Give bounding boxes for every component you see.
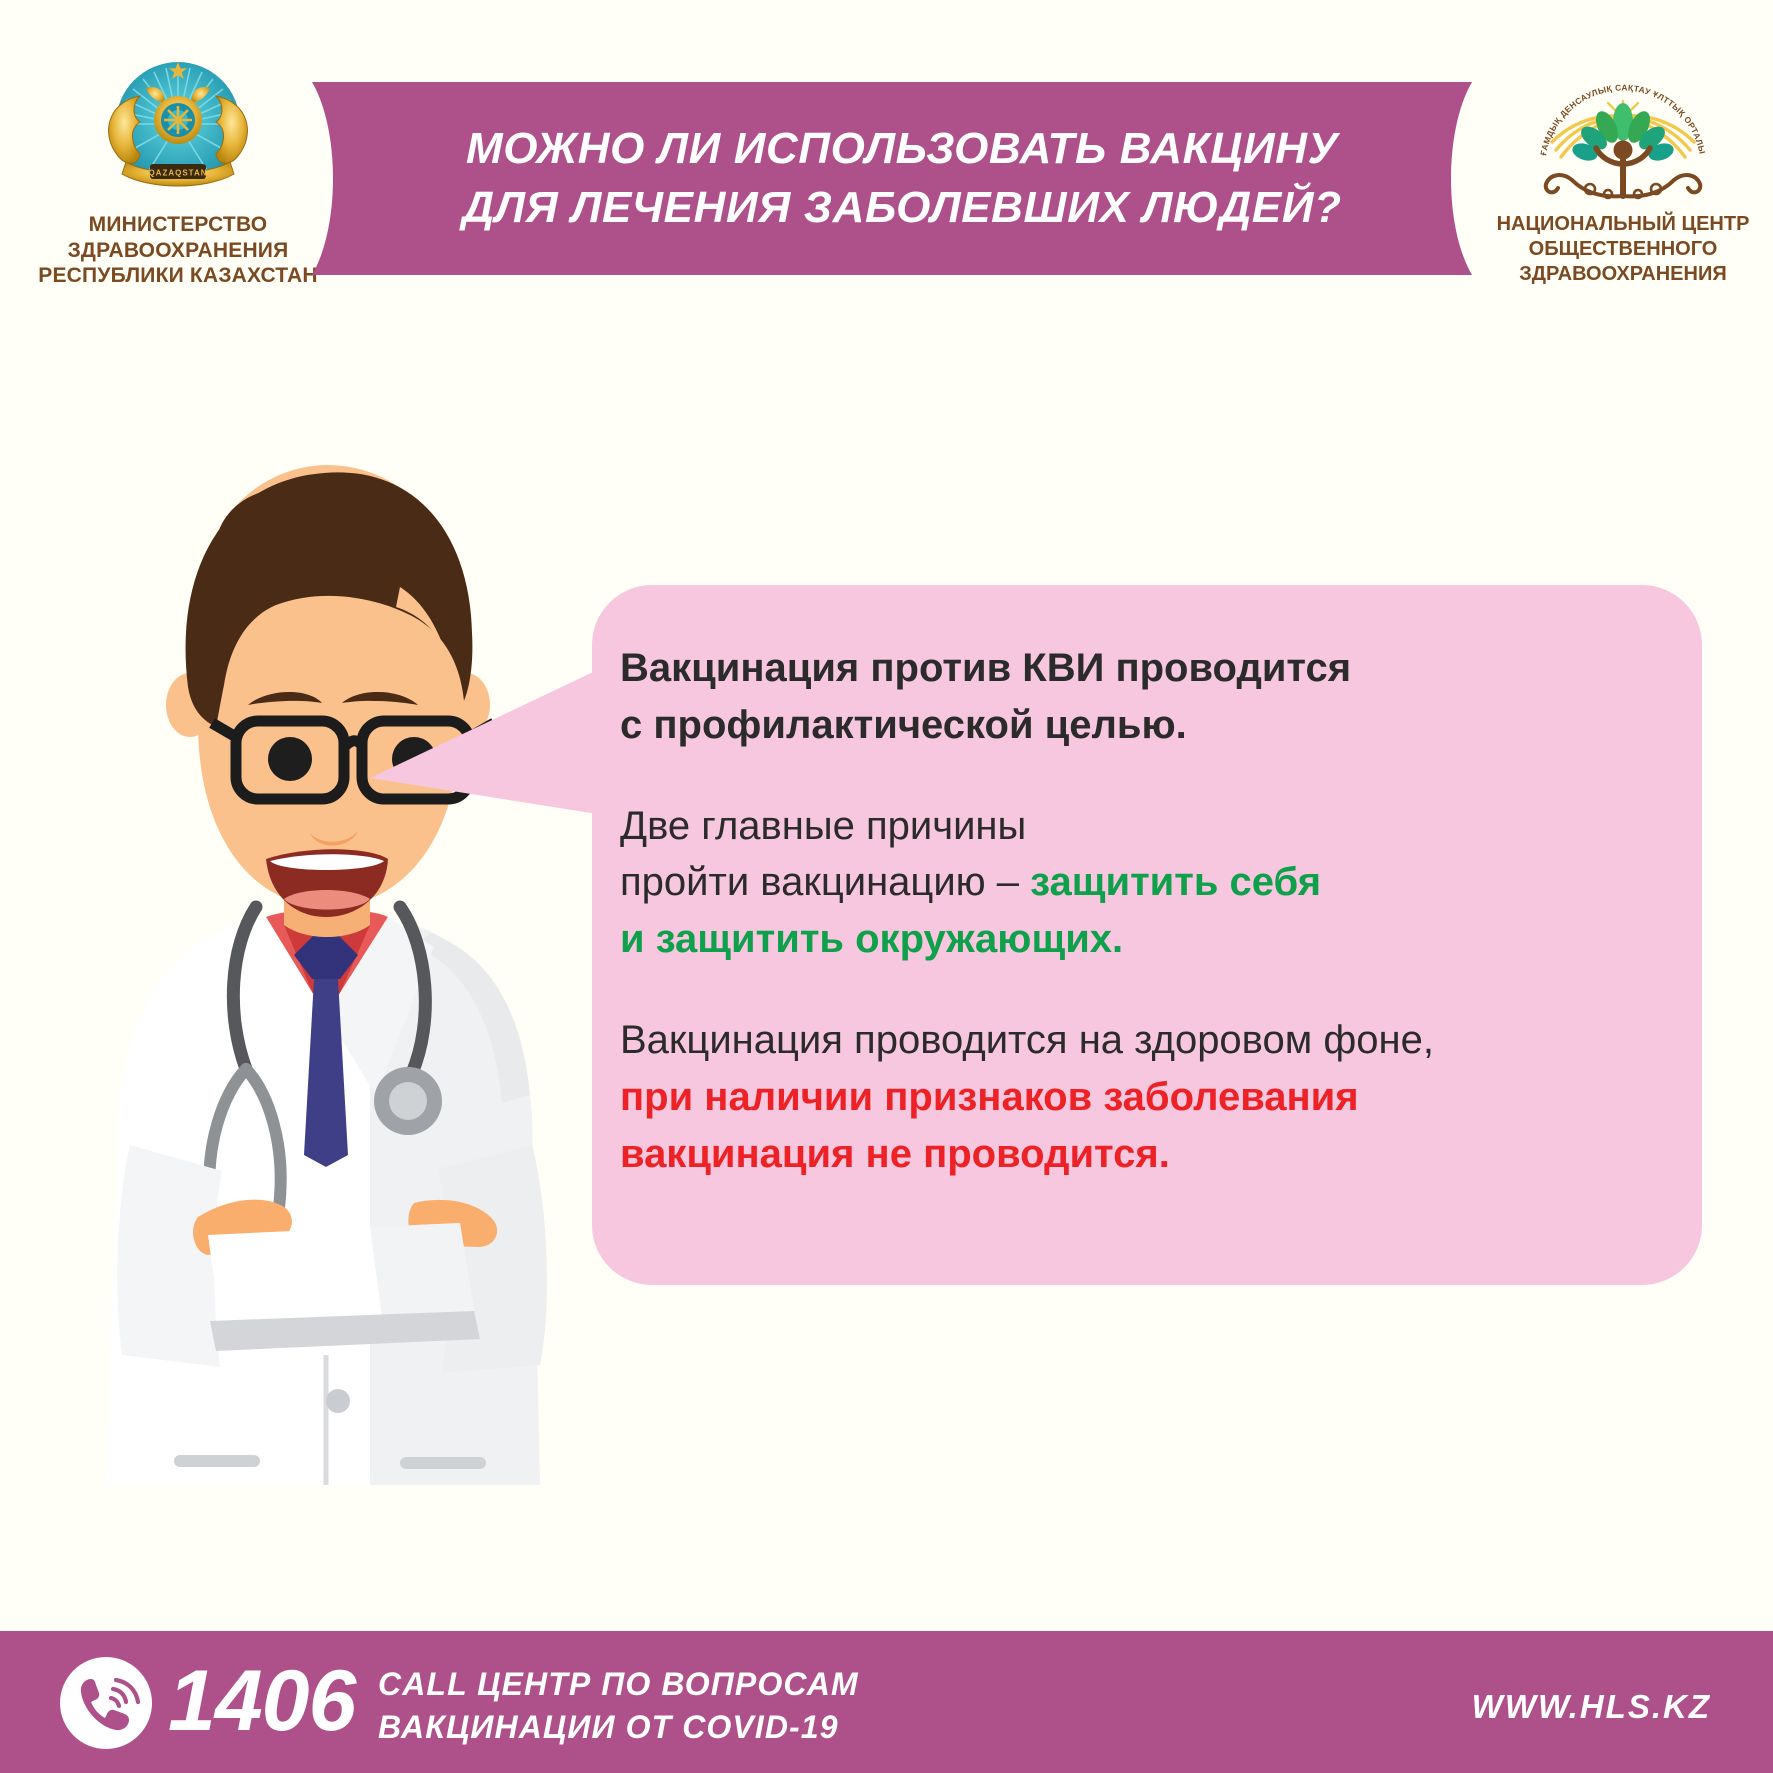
ncph-logo-caption: НАЦИОНАЛЬНЫЙ ЦЕНТР ОБЩЕСТВЕННОГО ЗДРАВОО…: [1478, 212, 1768, 287]
banner-line-1: МОЖНО ЛИ ИСПОЛЬЗОВАТЬ ВАКЦИНУ: [466, 120, 1338, 178]
bubble-p2-line1: Две главные причины: [620, 798, 1690, 855]
speech-bubble-tail: [370, 640, 610, 820]
ncph-line-2: ОБЩЕСТВЕННОГО: [1478, 237, 1768, 262]
website-url[interactable]: WWW.HLS.KZ: [1472, 1688, 1711, 1726]
hotline-caption-line-2: ВАКЦИНАЦИИ ОТ COVID-19: [378, 1706, 859, 1749]
bubble-p3-line3: вакцинация не проводится.: [620, 1126, 1690, 1183]
ministry-logo-caption: МИНИСТЕРСТВО ЗДРАВООХРАНЕНИЯ РЕСПУБЛИКИ …: [18, 212, 338, 289]
bubble-p2-plain: пройти вакцинацию –: [620, 860, 1030, 904]
doctor-illustration: [70, 455, 590, 1485]
footer-bar: 1406 CALL ЦЕНТР ПО ВОПРОСАМ ВАКЦИНАЦИИ О…: [0, 1631, 1773, 1773]
ncph-line-3: ЗДРАВООХРАНЕНИЯ: [1478, 262, 1768, 287]
page-title: МОЖНО ЛИ ИСПОЛЬЗОВАТЬ ВАКЦИНУ ДЛЯ ЛЕЧЕНИ…: [312, 82, 1472, 275]
ministry-line-2: ЗДРАВООХРАНЕНИЯ: [18, 238, 338, 264]
bubble-p1-line1: Вакцинация против КВИ проводится: [620, 640, 1690, 697]
ministry-line-3: РЕСПУБЛИКИ КАЗАХСТАН: [18, 263, 338, 289]
hotline-number: 1406: [168, 1649, 355, 1753]
bubble-p2-line2: пройти вакцинацию – защитить себя: [620, 854, 1690, 911]
svg-text:QAZAQSTAN: QAZAQSTAN: [148, 169, 207, 178]
banner-line-2: ДЛЯ ЛЕЧЕНИЯ ЗАБОЛЕВШИХ ЛЮДЕЙ?: [462, 179, 1341, 237]
kazakhstan-state-emblem-icon: QAZAQSTAN: [88, 58, 268, 203]
header-banner: МОЖНО ЛИ ИСПОЛЬЗОВАТЬ ВАКЦИНУ ДЛЯ ЛЕЧЕНИ…: [312, 82, 1472, 275]
header: QAZAQSTAN МИНИСТЕРСТВО ЗДРАВООХРАНЕНИЯ Р…: [0, 0, 1773, 300]
paragraph-spacer-2: [620, 968, 1690, 1012]
bubble-p1-line2: с профилактической целью.: [620, 697, 1690, 754]
poster-root: QAZAQSTAN МИНИСТЕРСТВО ЗДРАВООХРАНЕНИЯ Р…: [0, 0, 1773, 1773]
phone-call-icon: [58, 1655, 154, 1751]
bubble-p2-highlight: защитить себя: [1030, 860, 1321, 904]
national-public-health-center-emblem-icon: ҚОҒАМДЫҚ ДЕНСАУЛЫҚ САҚТАУ ҰЛТТЫҚ ОРТАЛЫҒ…: [1528, 56, 1718, 206]
bubble-p3-line1: Вакцинация проводится на здоровом фоне,: [620, 1012, 1690, 1069]
ministry-line-1: МИНИСТЕРСТВО: [18, 212, 338, 238]
hotline-caption: CALL ЦЕНТР ПО ВОПРОСАМ ВАКЦИНАЦИИ ОТ COV…: [378, 1663, 859, 1748]
speech-bubble-text: Вакцинация против КВИ проводится с профи…: [620, 640, 1690, 1182]
bubble-p2-line3: и защитить окружающих.: [620, 911, 1690, 968]
hotline-caption-line-1: CALL ЦЕНТР ПО ВОПРОСАМ: [378, 1663, 859, 1706]
bubble-p3-line2: при наличии признаков заболевания: [620, 1069, 1690, 1126]
paragraph-spacer-1: [620, 754, 1690, 798]
ncph-line-1: НАЦИОНАЛЬНЫЙ ЦЕНТР: [1478, 212, 1768, 237]
